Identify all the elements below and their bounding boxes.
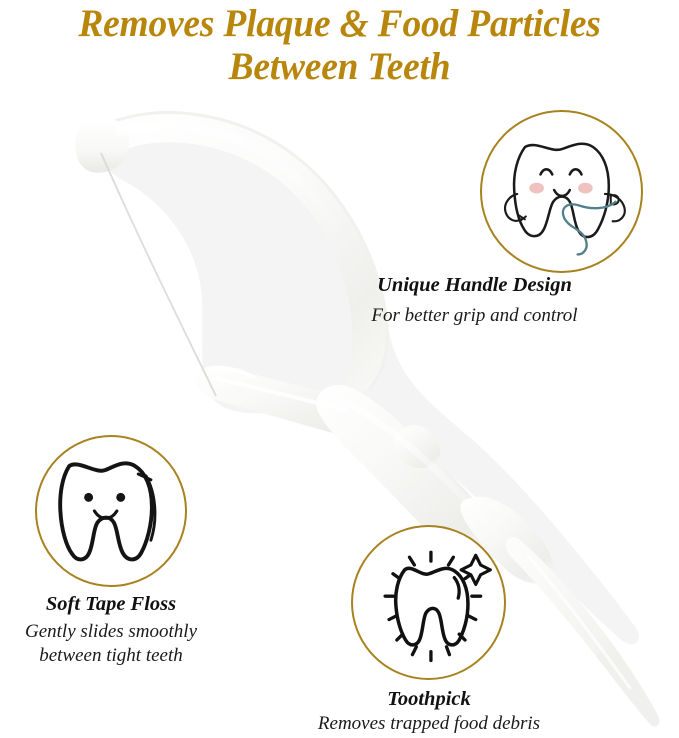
smiling-tooth-with-floss-icon [482, 112, 641, 271]
feature-subtitle-soft-tape-floss: Gently slides smoothly between tight tee… [0, 620, 222, 668]
feature-title-toothpick: Toothpick [279, 687, 579, 711]
smiling-tooth-with-tape-icon [37, 437, 185, 585]
feature-badge-soft-tape-floss [35, 435, 187, 587]
feature-badge-toothpick [351, 525, 506, 680]
feature-badge-unique-handle-design [480, 110, 643, 273]
sparkling-clean-tooth-icon [353, 527, 504, 678]
page-title: Removes Plaque & Food Particles Between … [14, 2, 666, 88]
page-title-line-2: Between Teeth [14, 45, 666, 88]
page-title-line-1: Removes Plaque & Food Particles [14, 2, 666, 45]
feature-title-soft-tape-floss: Soft Tape Floss [0, 592, 222, 616]
feature-subtitle-toothpick: Removes trapped food debris [269, 712, 589, 736]
infographic-canvas: Removes Plaque & Food Particles Between … [0, 0, 679, 738]
feature-title-unique-handle-design: Unique Handle Design [0, 273, 679, 297]
feature-subtitle-unique-handle-design: For better grip and control [0, 304, 679, 328]
